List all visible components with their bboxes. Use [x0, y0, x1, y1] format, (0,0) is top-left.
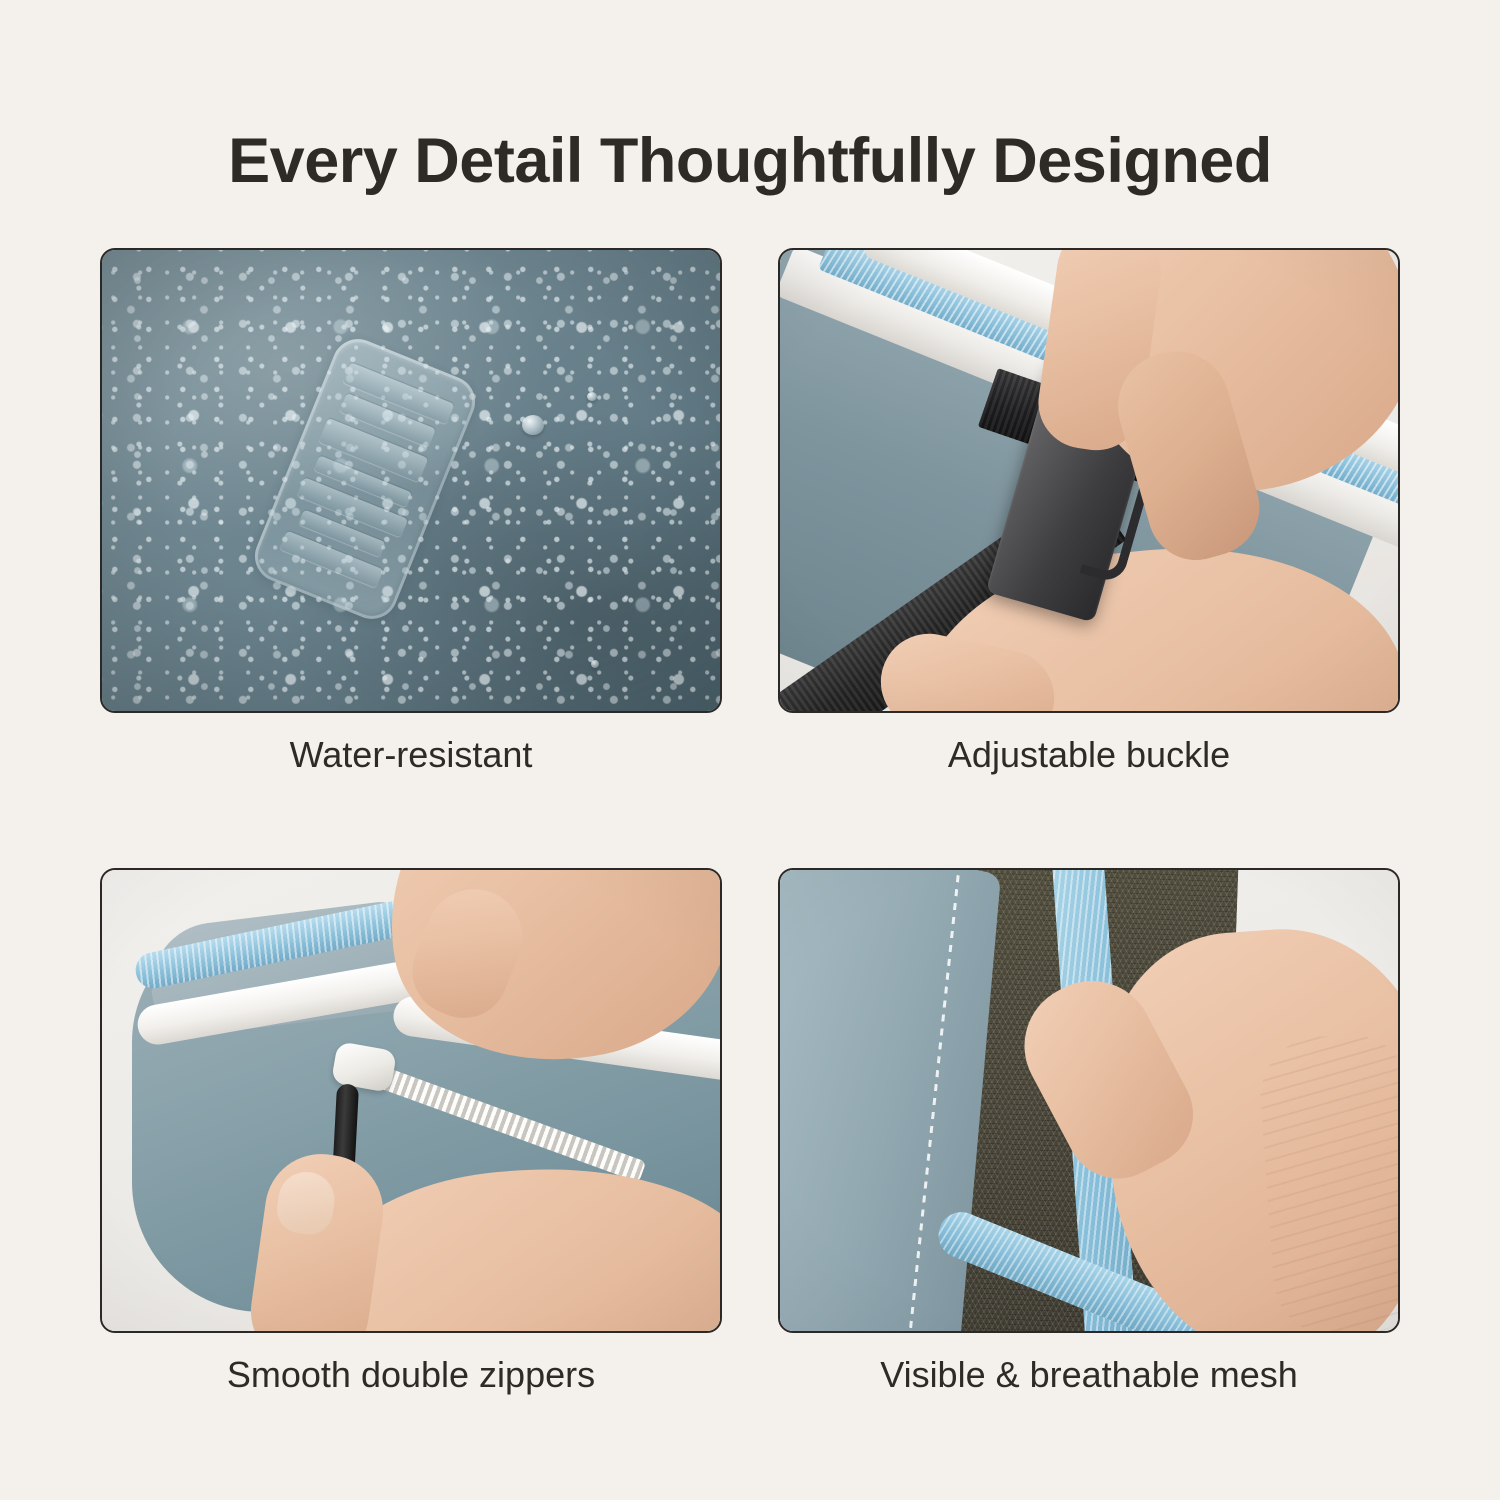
feature-image-adjustable-buckle[interactable]	[778, 248, 1400, 713]
feature-card-adjustable-buckle[interactable]: Adjustable buckle	[778, 248, 1400, 713]
feature-card-visible-breathable-mesh[interactable]: Visible & breathable mesh	[778, 868, 1400, 1333]
feature-card-smooth-double-zippers[interactable]: Smooth double zippers	[100, 868, 722, 1333]
feature-image-visible-breathable-mesh[interactable]	[778, 868, 1400, 1333]
feature-card-water-resistant[interactable]: Water-resistant	[100, 248, 722, 713]
feature-caption-smooth-double-zippers: Smooth double zippers	[100, 1353, 722, 1397]
skin-crease-texture	[1257, 1031, 1400, 1333]
feature-image-smooth-double-zippers[interactable]	[100, 868, 722, 1333]
feature-caption-adjustable-buckle: Adjustable buckle	[778, 733, 1400, 777]
feature-image-water-resistant[interactable]	[100, 248, 722, 713]
feature-grid: Water-resistant Adjustable buckle	[100, 248, 1400, 1438]
page-title: Every Detail Thoughtfully Designed	[0, 124, 1500, 198]
feature-caption-water-resistant: Water-resistant	[100, 733, 722, 777]
feature-caption-visible-breathable-mesh: Visible & breathable mesh	[778, 1353, 1400, 1397]
feature-detail-page: Every Detail Thoughtfully Designed	[0, 0, 1500, 1500]
image-vignette	[102, 250, 720, 711]
